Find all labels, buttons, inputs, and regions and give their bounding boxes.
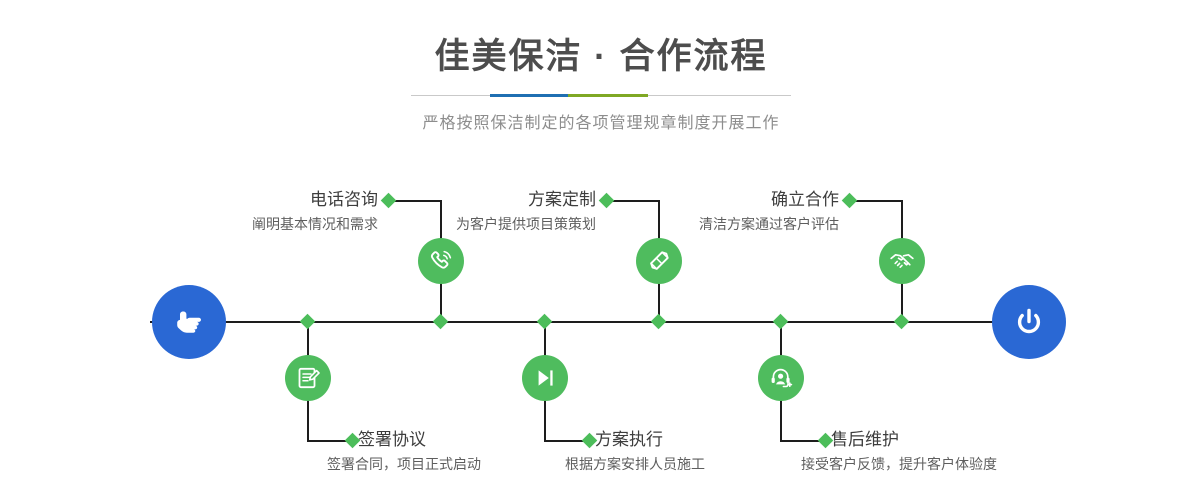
step-6-label: 确立合作 — [610, 190, 839, 210]
step-4-icon-node[interactable] — [522, 355, 568, 401]
step-1-icon-node[interactable] — [418, 238, 464, 284]
contract-edit-icon — [295, 365, 321, 391]
step-1-axis-marker — [433, 314, 449, 330]
handshake-icon — [888, 247, 916, 275]
step-6-horizontal-connector — [850, 200, 902, 202]
phone-call-icon — [427, 247, 455, 275]
customer-support-icon — [768, 365, 794, 391]
step-5-label: 售后维护 — [831, 430, 1131, 450]
timeline-axis — [150, 321, 1052, 323]
power-icon — [1009, 302, 1049, 342]
step-3-label: 方案定制 — [365, 190, 596, 210]
step-6-marker — [842, 193, 858, 209]
process-flow-diagram: 电话咨询 阐明基本情况和需求 签署协议 签署合同，项目正式启动 — [0, 0, 1202, 502]
step-3-icon-node[interactable] — [636, 238, 682, 284]
step-2-icon-node[interactable] — [285, 355, 331, 401]
step-5-description: 接受客户反馈，提升客户体验度 — [801, 455, 1141, 473]
step-2-axis-marker — [300, 314, 316, 330]
step-6-description: 清洁方案通过客户评估 — [580, 215, 839, 233]
step-6-axis-marker — [894, 314, 910, 330]
play-execute-icon — [532, 365, 558, 391]
step-5-axis-marker — [773, 314, 789, 330]
pointing-hand-icon — [169, 302, 209, 342]
flow-start-node[interactable] — [152, 285, 226, 359]
step-6-icon-node[interactable] — [879, 238, 925, 284]
step-3-axis-marker — [651, 314, 667, 330]
flow-end-node[interactable] — [992, 285, 1066, 359]
step-4-axis-marker — [537, 314, 553, 330]
pencil-design-icon — [645, 247, 673, 275]
step-5-icon-node[interactable] — [758, 355, 804, 401]
flowchart-page: 佳美保洁 · 合作流程 严格按照保洁制定的各项管理规章制度开展工作 — [0, 0, 1202, 502]
step-3-description: 为客户提供项目策策划 — [335, 215, 596, 233]
step-1-label: 电话咨询 — [143, 190, 378, 210]
